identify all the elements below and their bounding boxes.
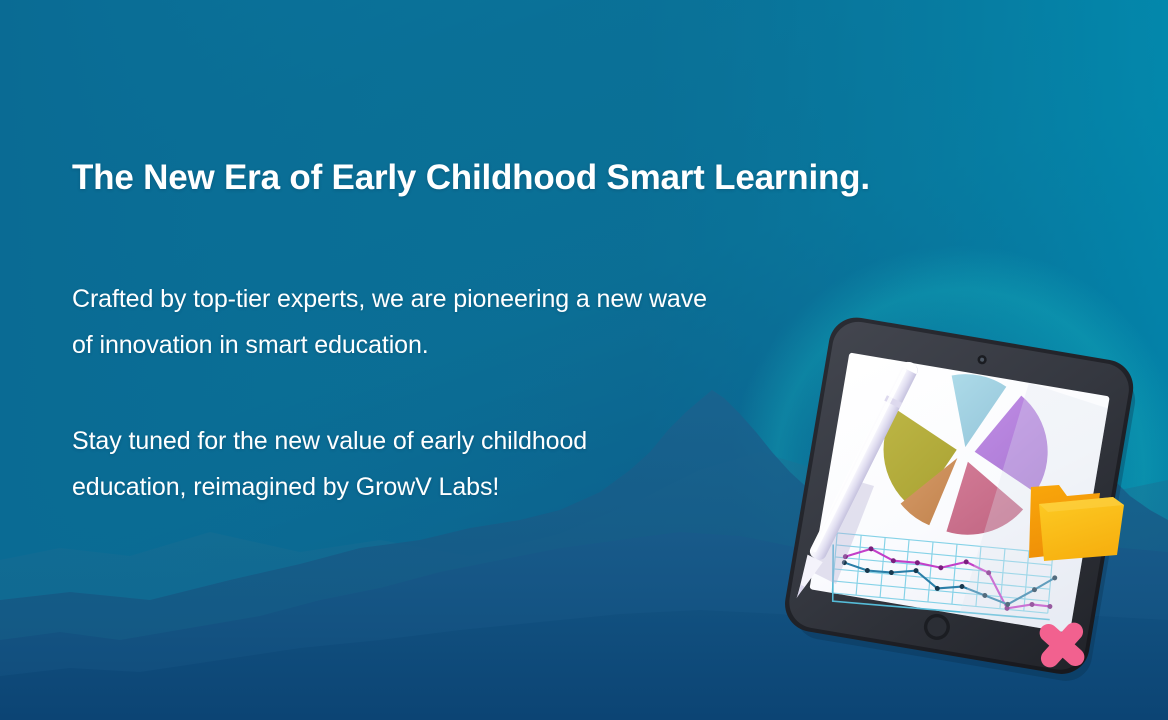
- hero-banner: The New Era of Early Childhood Smart Lea…: [0, 0, 1168, 720]
- tablet-illustration: [0, 0, 1168, 720]
